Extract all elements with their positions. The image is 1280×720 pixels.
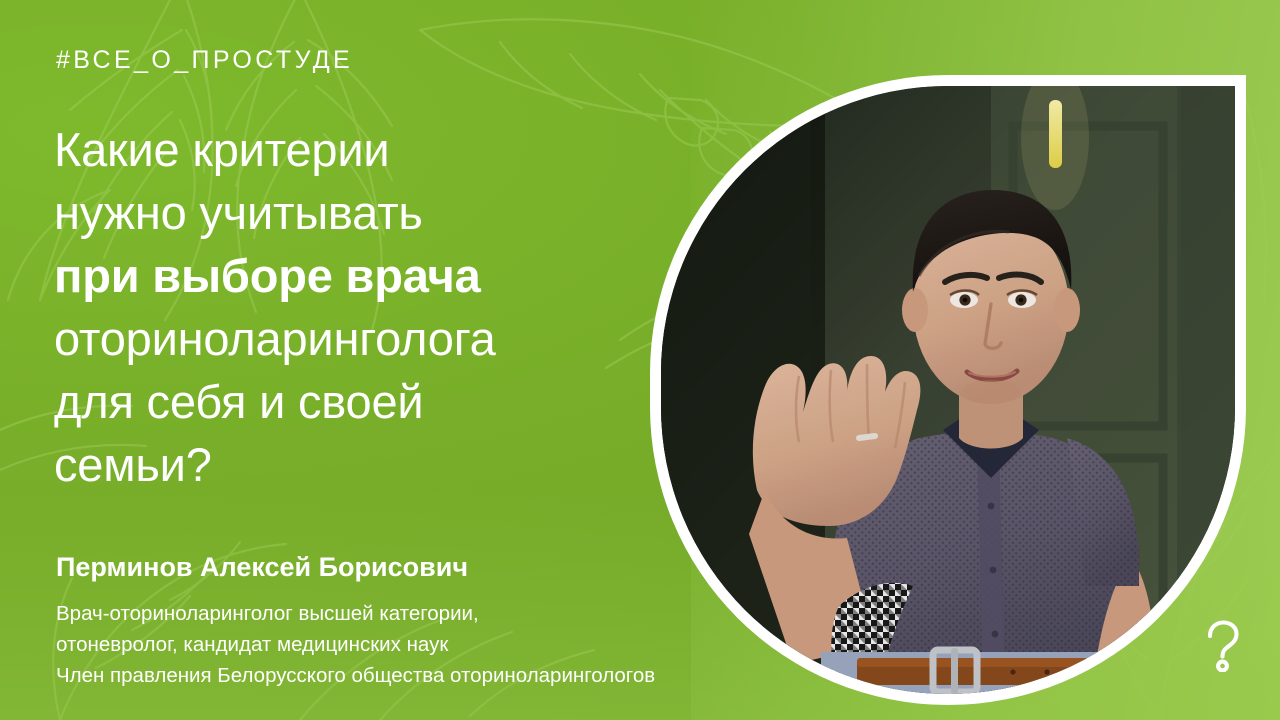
speaker-photo <box>661 86 1235 694</box>
speaker-credentials: Врач-оториноларинголог высшей категории,… <box>56 598 655 691</box>
credential-line-3: Член правления Белорусского общества ото… <box>56 660 655 691</box>
title-line-4: оториноларинголога <box>54 307 674 370</box>
credential-line-2: отоневролог, кандидат медицинских наук <box>56 629 655 660</box>
speaker-photo-frame <box>650 75 1246 705</box>
title-line-6: семьи? <box>54 433 674 496</box>
title-line-2: нужно учитывать <box>54 181 674 244</box>
slide-root: #ВСЕ_О_ПРОСТУДЕ Какие критерии нужно учи… <box>0 0 1280 720</box>
speaker-photo-image <box>661 86 1235 694</box>
page-title: Какие критерии нужно учитывать при выбор… <box>54 118 674 496</box>
hashtag-label: #ВСЕ_О_ПРОСТУДЕ <box>56 46 353 75</box>
title-line-5: для себя и своей <box>54 370 674 433</box>
title-line-3-emphasis: при выборе врача <box>54 244 674 307</box>
question-mark-icon <box>1204 620 1242 672</box>
title-line-1: Какие критерии <box>54 118 674 181</box>
credential-line-1: Врач-оториноларинголог высшей категории, <box>56 598 655 629</box>
speaker-name: Перминов Алексей Борисович <box>56 552 468 583</box>
